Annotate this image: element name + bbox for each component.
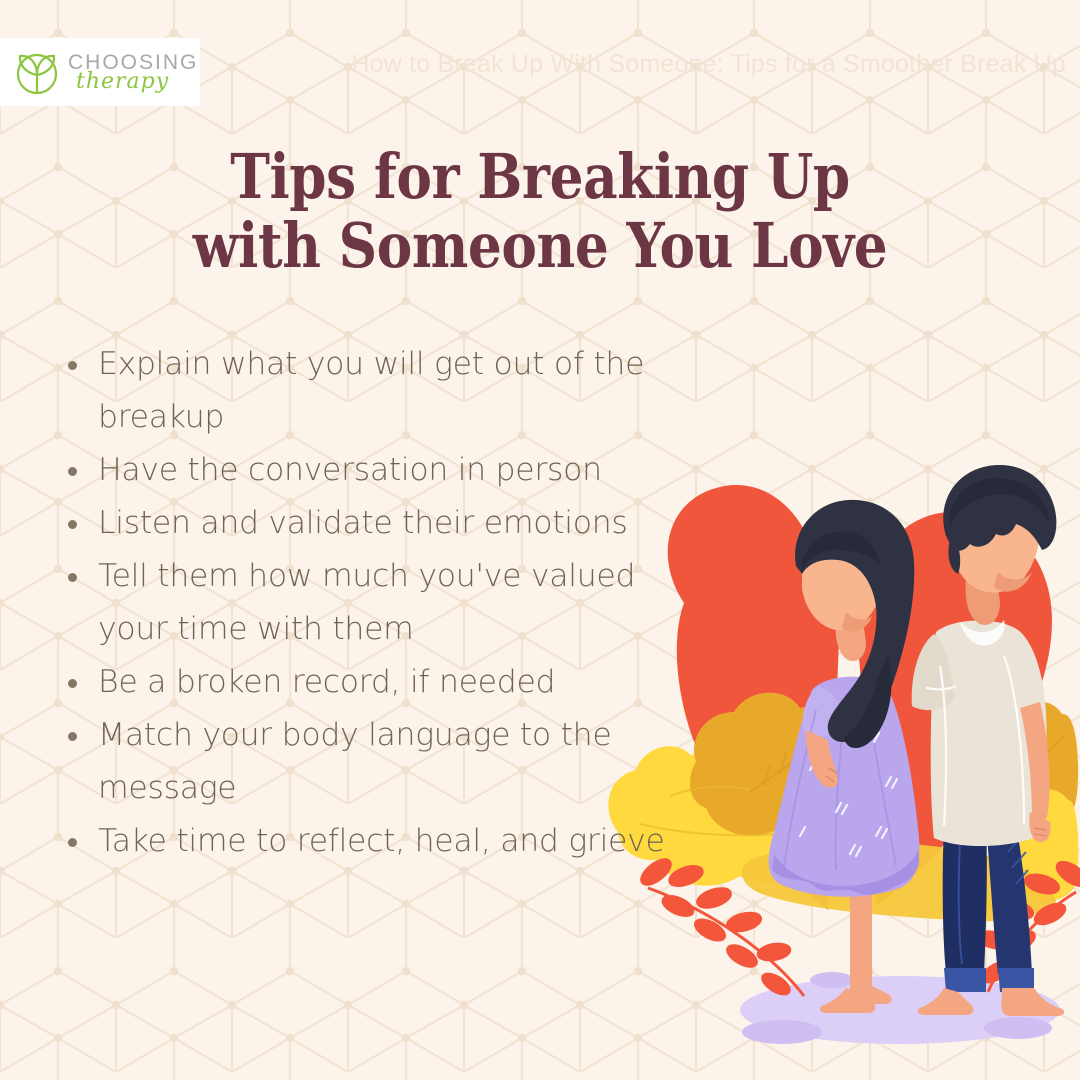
brand-wordmark: CHOOSING therapy [68,52,198,93]
page-title-line-1: Tips for Breaking Up [76,142,1005,211]
list-item: Take time to reflect, heal, and grieve [60,815,700,868]
list-item: Listen and validate their emotions [60,497,700,550]
list-item: Explain what you will get out of the bre… [60,338,700,444]
page-title-line-2: with Someone You Love [76,211,1005,280]
list-item: Have the conversation in person [60,444,700,497]
lotus-leaf-icon [12,47,62,97]
article-header-title: How to Break Up With Someone: Tips for a… [351,50,1066,79]
tips-list: Explain what you will get out of the bre… [60,338,700,868]
list-item: Be a broken record, if needed [60,656,700,709]
infographic-canvas: CHOOSING therapy How to Break Up With So… [0,0,1080,1080]
brand-logo[interactable]: CHOOSING therapy [0,38,200,106]
brand-name-secondary: therapy [76,71,198,93]
list-item: Match your body language to the message [60,709,700,815]
list-item: Tell them how much you've valued your ti… [60,550,700,656]
page-title: Tips for Breaking Up with Someone You Lo… [76,142,1005,281]
